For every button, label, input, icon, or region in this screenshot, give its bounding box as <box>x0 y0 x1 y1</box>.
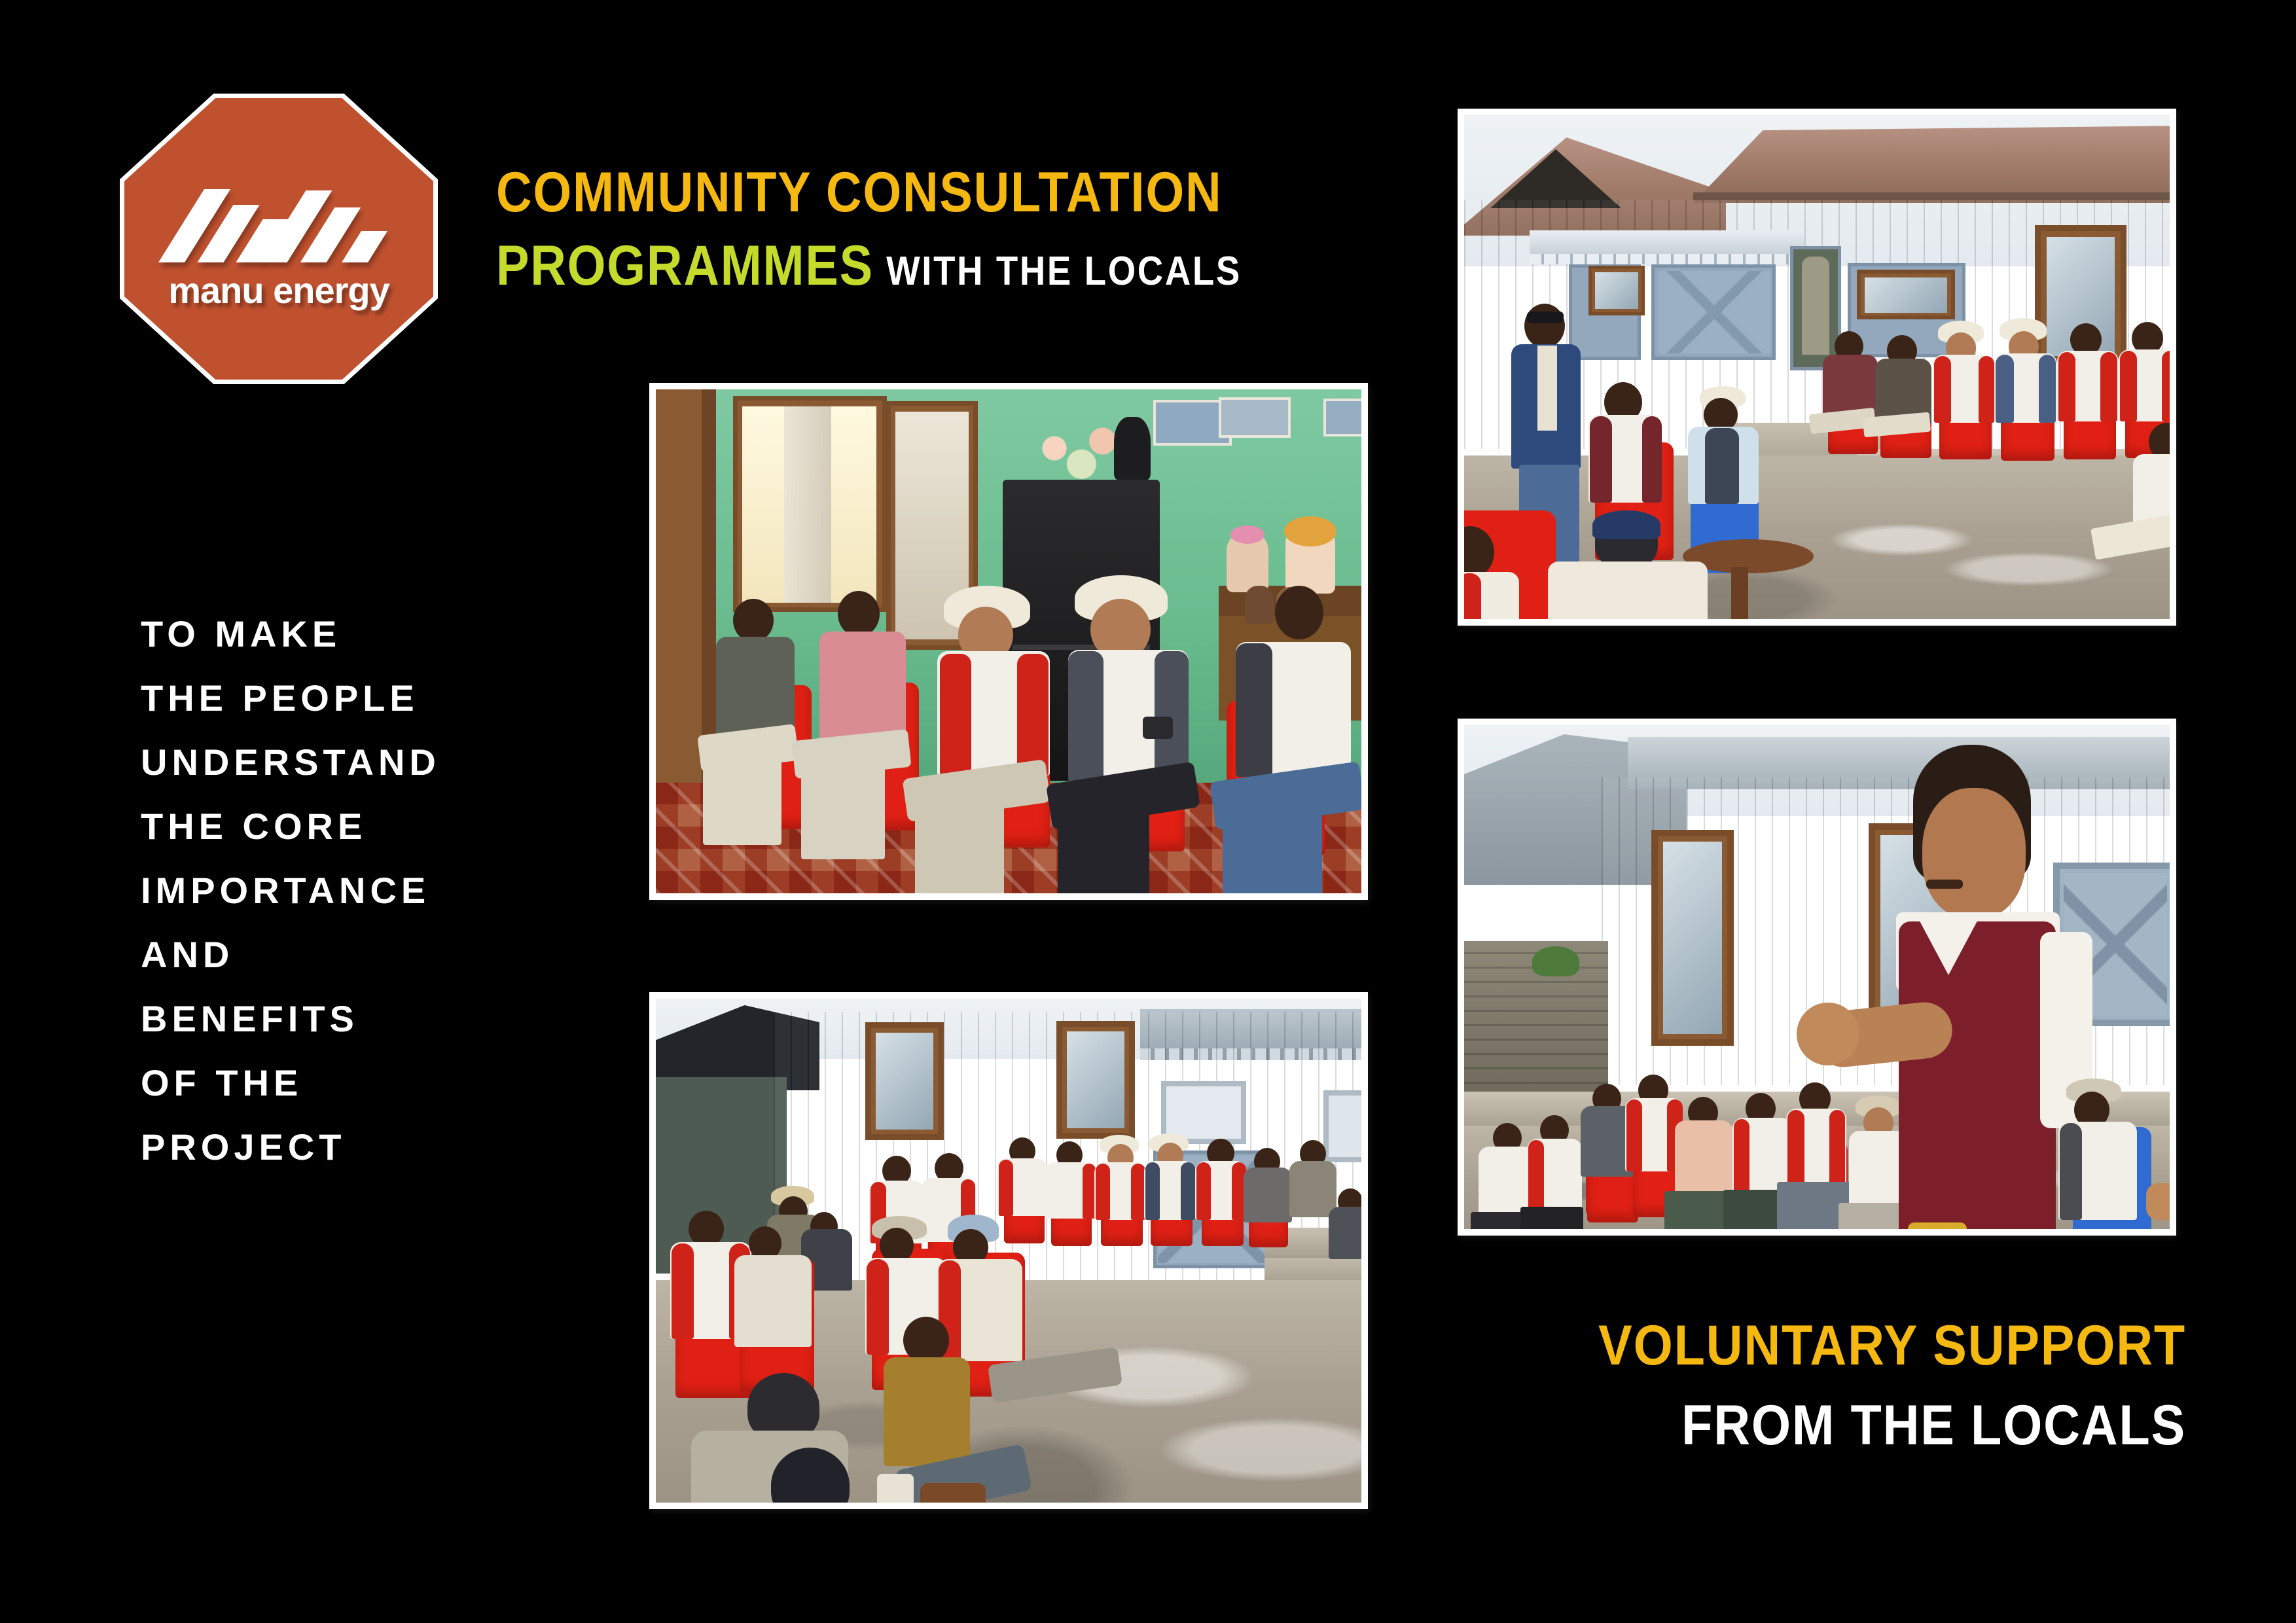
left-caption-line: THE CORE <box>141 794 560 859</box>
left-caption-line: UNDERSTAND <box>141 730 560 794</box>
title-line-2: PROGRAMMESWITH THE LOCALS <box>496 229 1331 308</box>
slide-canvas: manu energy COMMUNITY CONSULTATION PROGR… <box>0 0 2296 1623</box>
bottom-caption-line-2: FROM THE LOCALS <box>1491 1385 2186 1465</box>
photo-indoor-meeting-image <box>656 389 1361 893</box>
logo-wordmark: manu energy <box>120 269 438 312</box>
title-line-1: COMMUNITY CONSULTATION <box>496 156 1331 229</box>
photo-speaker-addressing-villagers <box>1458 719 2176 1236</box>
title-line-2-suffix: WITH THE LOCALS <box>886 249 1242 294</box>
left-caption-line: BENEFITS <box>141 987 560 1051</box>
left-caption-block: TO MAKE THE PEOPLE UNDERSTAND THE CORE I… <box>141 602 560 1179</box>
title-line-2-main: PROGRAMMES <box>496 234 874 297</box>
page-title: COMMUNITY CONSULTATION PROGRAMMESWITH TH… <box>496 156 1445 308</box>
left-caption-line: AND <box>141 923 560 987</box>
left-caption-line: THE PEOPLE <box>141 666 560 730</box>
left-caption-line: OF THE <box>141 1051 560 1115</box>
photo-outdoor-large-gathering-image <box>656 999 1361 1503</box>
photo-speaker-addressing-villagers-image <box>1464 725 2170 1229</box>
photo-outdoor-circle-meeting <box>1458 109 2176 626</box>
photo-outdoor-large-gathering <box>649 992 1368 1509</box>
bar-wave-icon <box>177 177 380 262</box>
photo-indoor-meeting <box>649 383 1368 900</box>
bottom-caption-line-1: VOLUNTARY SUPPORT <box>1491 1306 2186 1385</box>
left-caption-line: IMPORTANCE <box>141 859 560 923</box>
manu-energy-logo[interactable]: manu energy <box>120 94 438 384</box>
bottom-caption-block: VOLUNTARY SUPPORT FROM THE LOCALS <box>1414 1306 2186 1465</box>
left-caption-line: TO MAKE <box>141 602 560 666</box>
left-caption-line: PROJECT <box>141 1115 560 1179</box>
photo-outdoor-circle-meeting-image <box>1464 115 2170 619</box>
